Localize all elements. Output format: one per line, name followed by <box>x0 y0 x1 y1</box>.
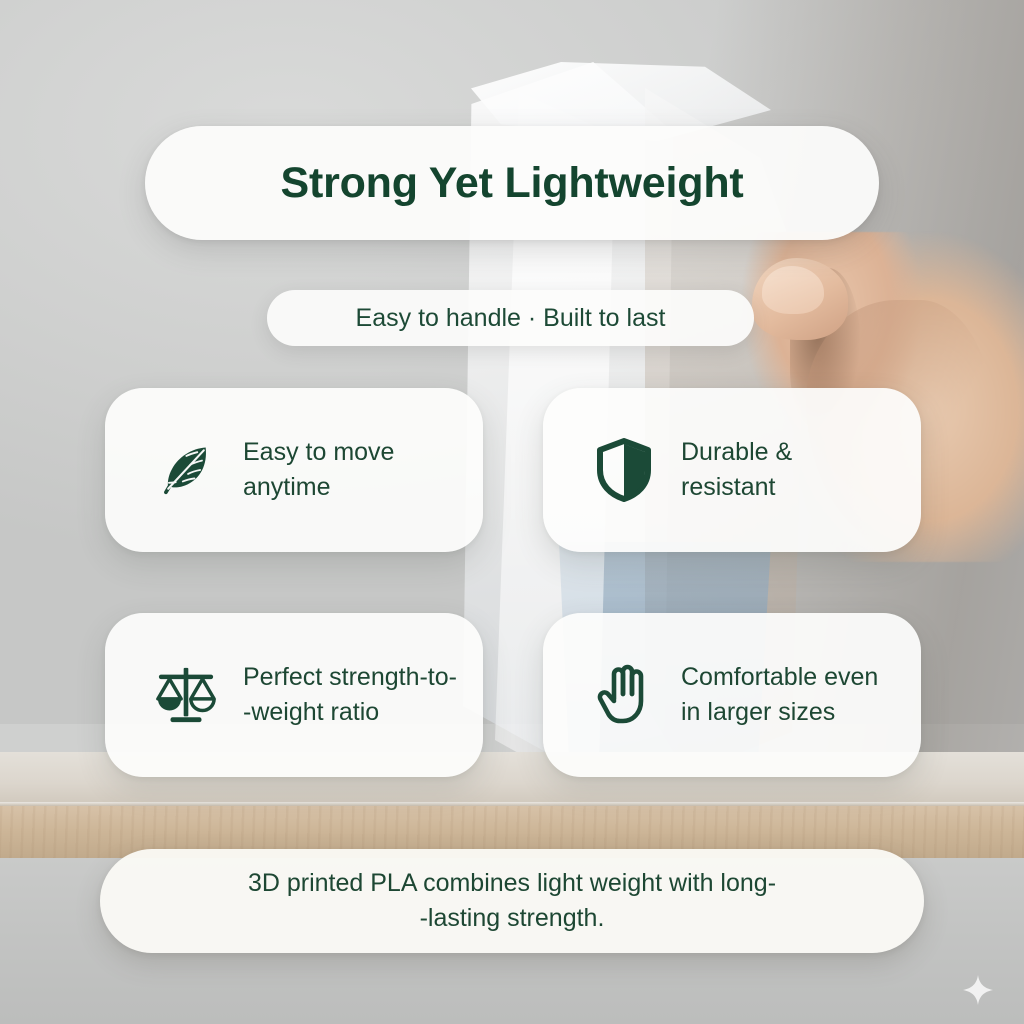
footer-line1: 3D printed PLA combines light weight wit… <box>248 869 776 897</box>
feature-label-line1: Easy to move <box>243 438 394 466</box>
feature-label-line2: anytime <box>243 473 331 501</box>
feature-label-line2: resistant <box>681 473 775 501</box>
feature-label-line2: -weight ratio <box>243 698 379 726</box>
feature-card-comfortable[interactable]: Comfortable even in larger sizes <box>543 613 921 777</box>
feature-card-label: Durable & resistant <box>681 435 792 506</box>
page-title: Strong Yet Lightweight <box>280 159 743 208</box>
feature-card-grid: Easy to move anytime Durable & resistant <box>105 388 921 777</box>
hand-icon <box>587 658 661 732</box>
shield-icon <box>587 433 661 507</box>
feature-card-durable[interactable]: Durable & resistant <box>543 388 921 552</box>
footer-line2: -lasting strength. <box>420 904 605 932</box>
feature-label-line1: Durable & <box>681 438 792 466</box>
footer-pill: 3D printed PLA combines light weight wit… <box>100 849 924 953</box>
thumbnail-photo <box>762 266 824 314</box>
feather-icon <box>149 433 223 507</box>
feature-label-line2: in larger sizes <box>681 698 835 726</box>
feature-card-label: Comfortable even in larger sizes <box>681 660 878 731</box>
balance-scale-icon <box>149 658 223 732</box>
feature-card-label: Easy to move anytime <box>243 435 394 506</box>
sparkle-icon <box>962 974 994 1006</box>
title-pill: Strong Yet Lightweight <box>145 126 879 240</box>
page-subtitle: Easy to handle · Built to last <box>356 304 666 333</box>
subtitle-pill: Easy to handle · Built to last <box>267 290 754 346</box>
feature-card-label: Perfect strength-to- -weight ratio <box>243 660 457 731</box>
feature-card-easy-to-move[interactable]: Easy to move anytime <box>105 388 483 552</box>
footer-text: 3D printed PLA combines light weight wit… <box>208 866 816 936</box>
infographic-canvas: Strong Yet Lightweight Easy to handle · … <box>0 0 1024 1024</box>
feature-label-line1: Comfortable even <box>681 663 878 691</box>
feature-label-line1: Perfect strength-to- <box>243 663 457 691</box>
feature-card-strength-to-weight[interactable]: Perfect strength-to- -weight ratio <box>105 613 483 777</box>
